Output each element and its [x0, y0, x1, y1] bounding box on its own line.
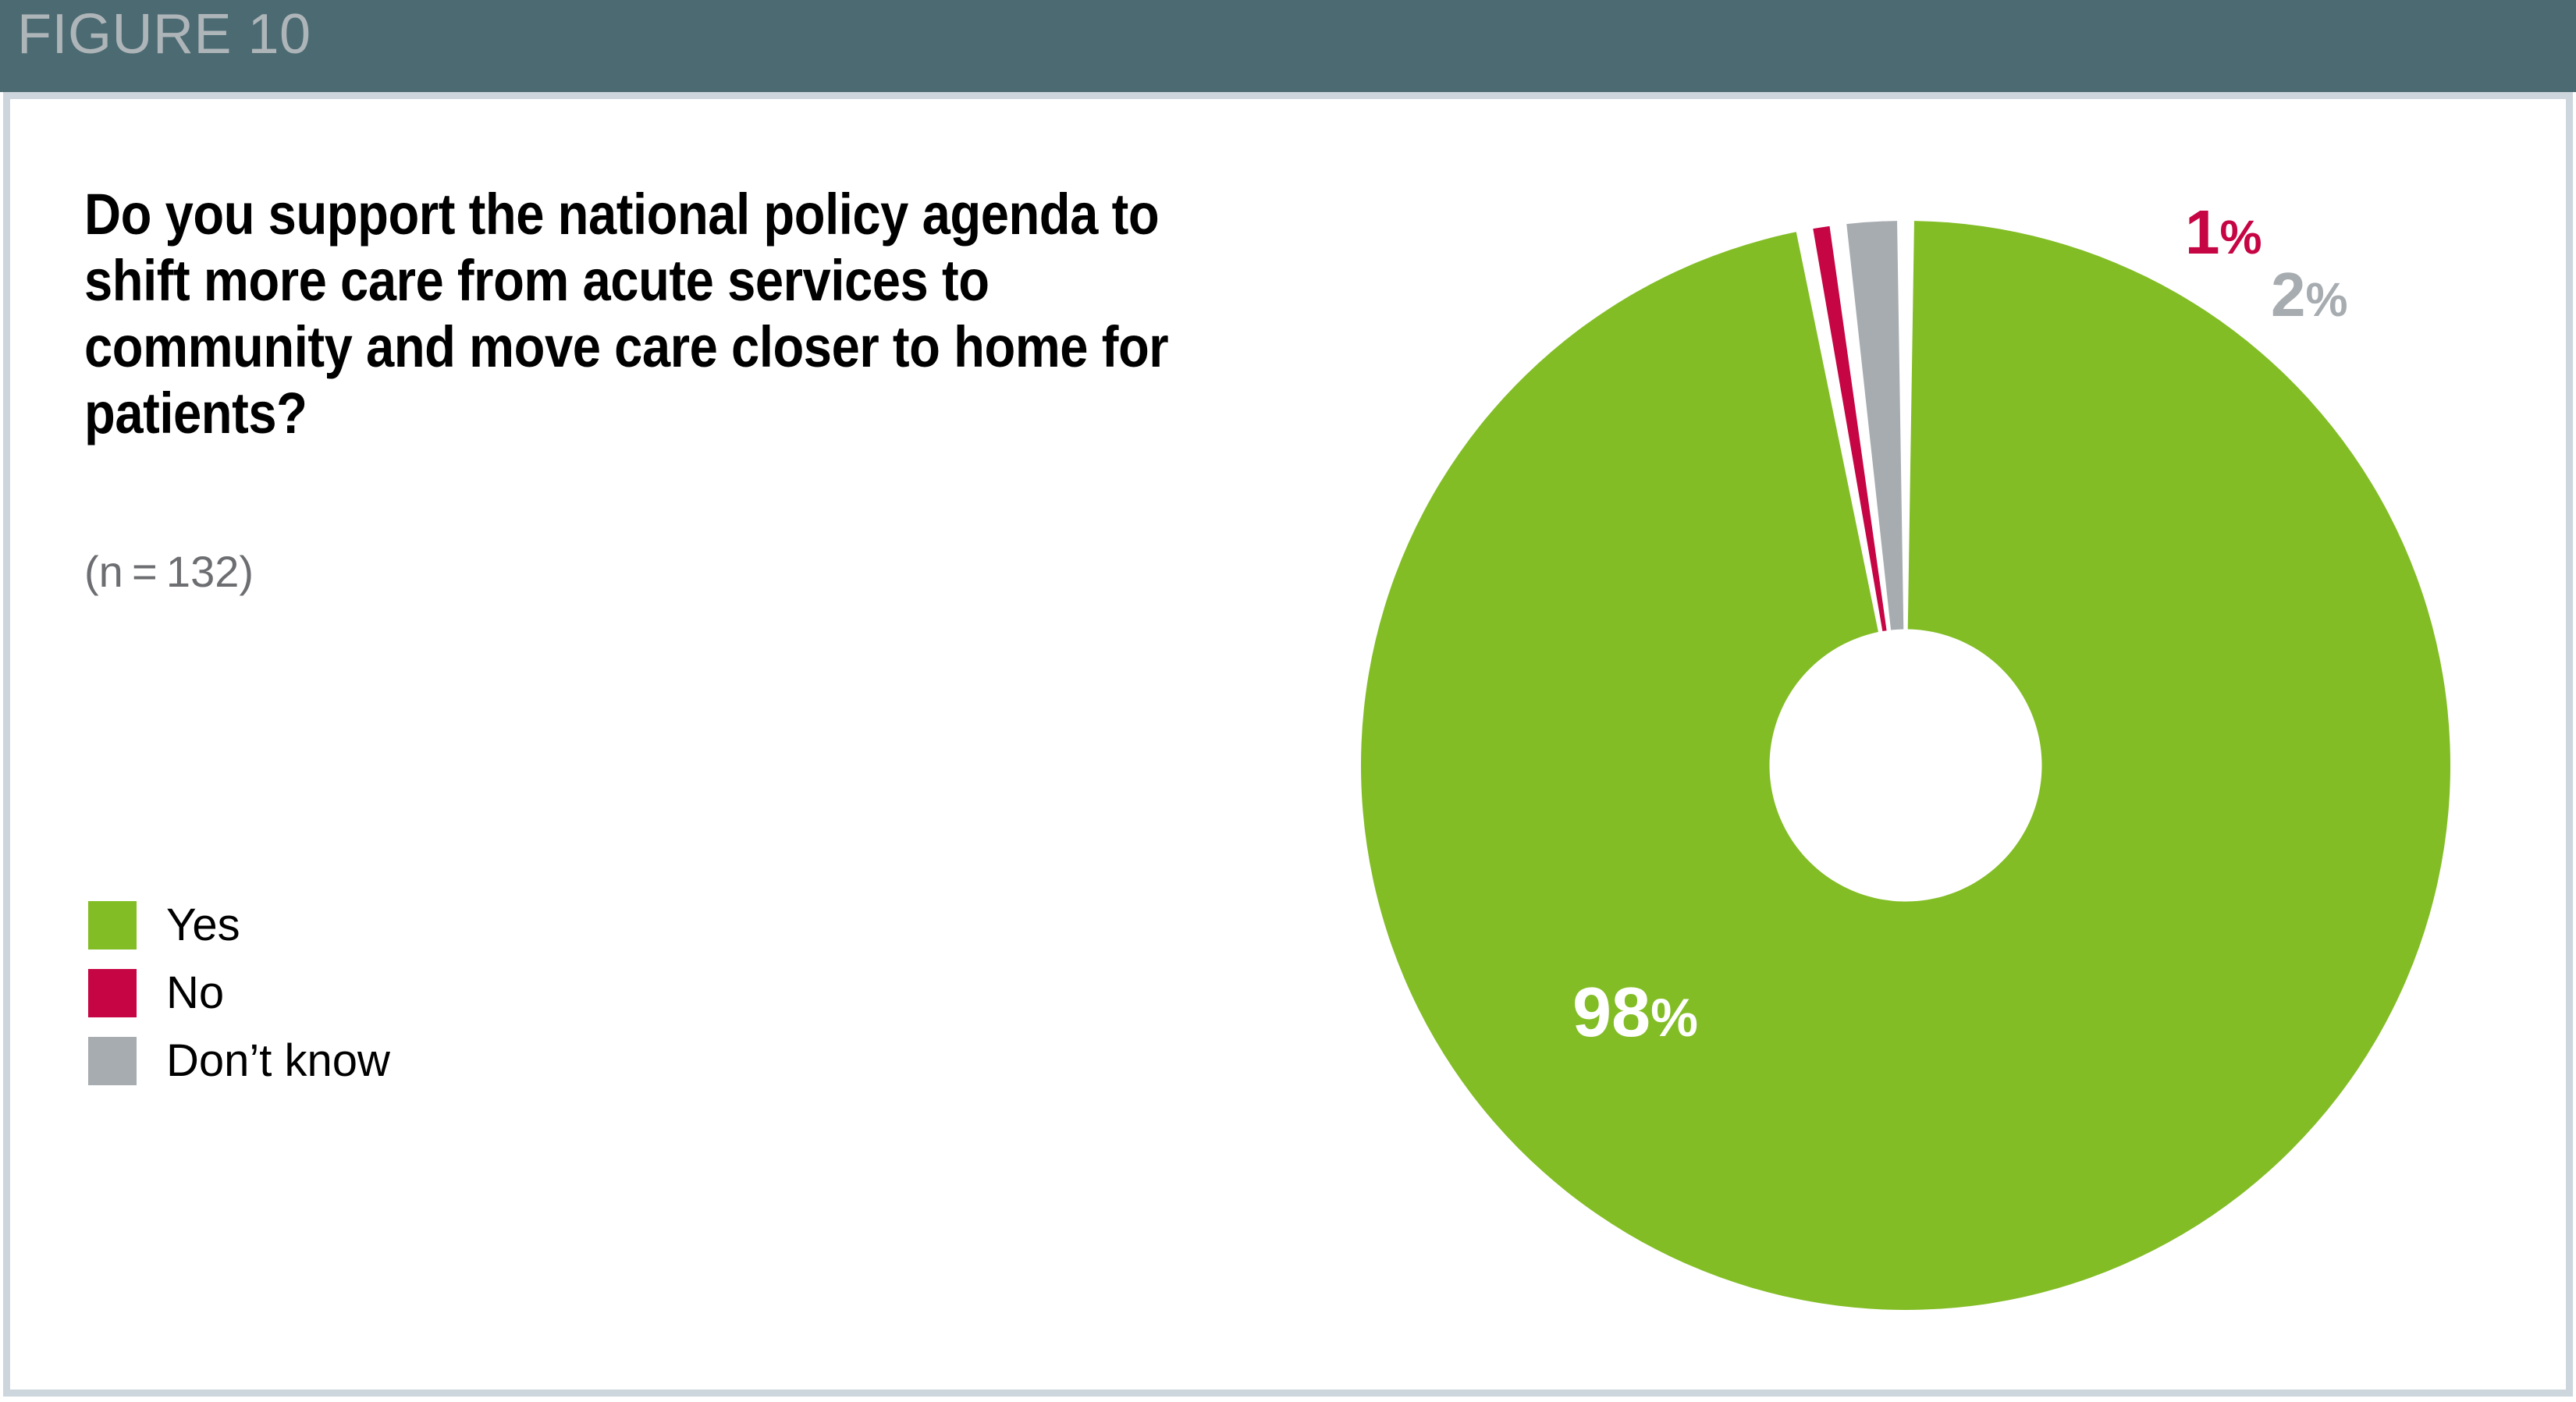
- legend-item-yes: Yes: [88, 891, 390, 959]
- data-label-dont-know: 2%: [2271, 264, 2348, 326]
- figure-root: FIGURE 10 Do you support the national po…: [0, 0, 2576, 1402]
- legend-label-no: No: [166, 969, 224, 1017]
- legend-label-yes: Yes: [166, 901, 240, 949]
- legend-item-dont-know: Don’t know: [88, 1027, 390, 1095]
- data-label-no-value: 1: [2185, 197, 2220, 267]
- chart-legend: Yes No Don’t know: [88, 891, 390, 1095]
- data-label-dont-know-value: 2: [2271, 260, 2306, 329]
- figure-number-label: FIGURE 10: [17, 0, 311, 73]
- legend-item-no: No: [88, 959, 390, 1027]
- donut-slice-yes: [1361, 221, 2450, 1310]
- data-label-dont-know-percent: %: [2306, 273, 2348, 326]
- legend-swatch-icon-yes: [88, 901, 137, 949]
- data-label-yes: 98%: [1572, 978, 1698, 1048]
- page-title: Do you support the national policy agend…: [84, 181, 1210, 446]
- data-label-yes-percent: %: [1650, 988, 1698, 1048]
- figure-banner: FIGURE 10: [0, 0, 2576, 92]
- data-label-no-percent: %: [2220, 211, 2262, 264]
- donut-chart-svg: [1295, 148, 2528, 1397]
- data-label-yes-value: 98: [1572, 974, 1650, 1052]
- data-label-no: 1%: [2185, 201, 2262, 264]
- sample-size-label: (n = 132): [84, 546, 254, 597]
- donut-chart: [1295, 148, 2528, 1397]
- legend-label-dont-know: Don’t know: [166, 1037, 390, 1085]
- donut-slice-group: [1361, 221, 2450, 1310]
- legend-swatch-icon-dont-know: [88, 1037, 137, 1085]
- legend-swatch-icon-no: [88, 969, 137, 1017]
